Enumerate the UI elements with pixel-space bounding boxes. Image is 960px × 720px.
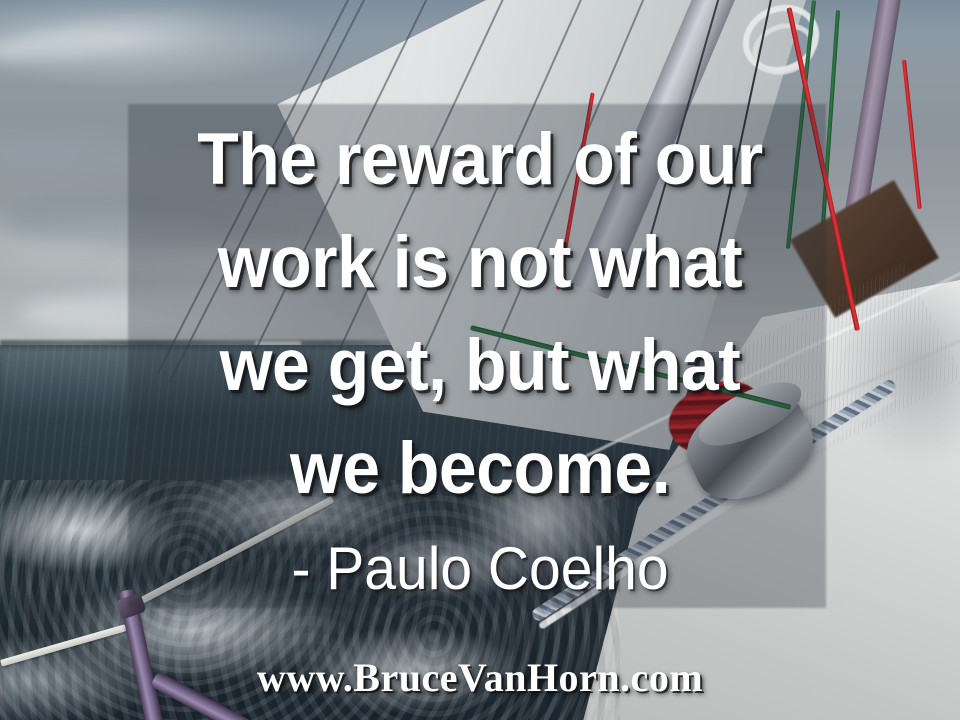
quote-image: The reward of our work is not what we ge… <box>0 0 960 720</box>
quote-line-4: we become. <box>34 417 927 520</box>
quote-line-1: The reward of our <box>34 108 927 211</box>
quote-line-3: we get, but what <box>34 314 927 417</box>
quote-line-2: work is not what <box>34 211 927 314</box>
website-url: www.BruceVanHorn.com <box>0 655 960 701</box>
quote-attribution: - Paulo Coelho <box>24 534 936 604</box>
quote-text: The reward of our work is not what we ge… <box>0 108 960 520</box>
